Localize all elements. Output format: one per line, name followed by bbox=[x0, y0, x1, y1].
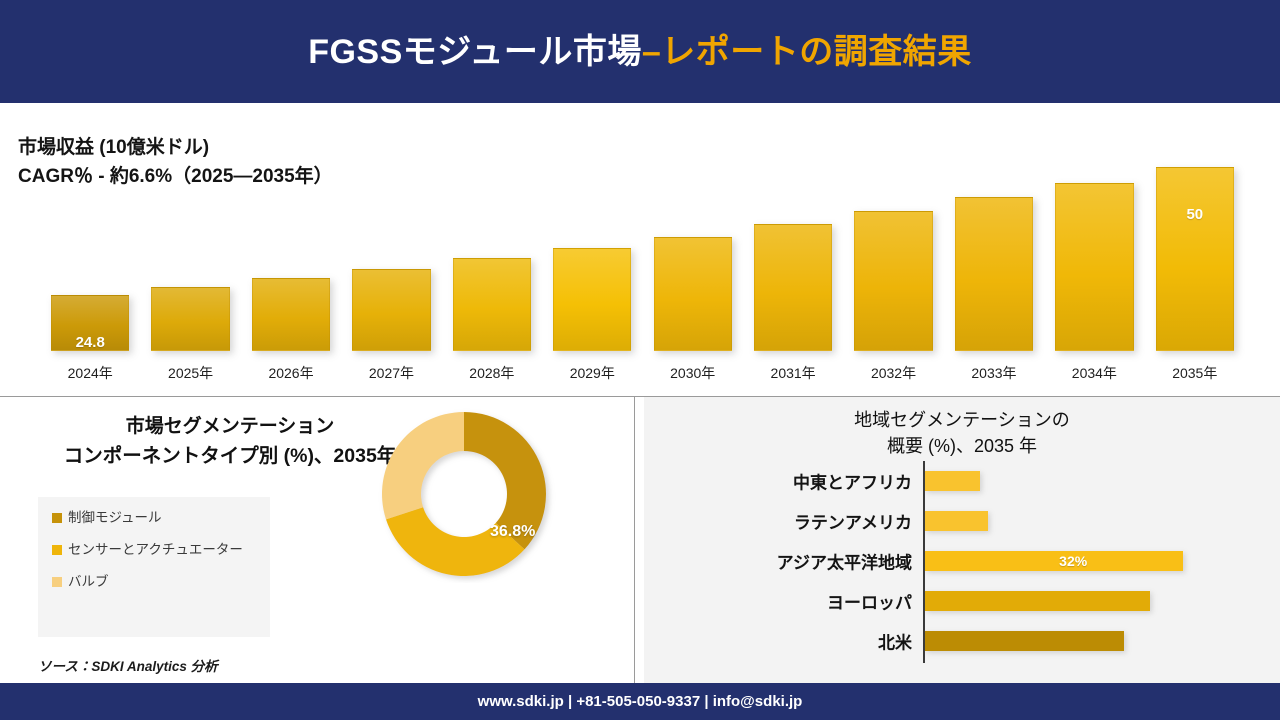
revenue-bar-category-label: 2032年 bbox=[843, 363, 943, 383]
source-note: ソース：SDKI Analytics 分析 bbox=[38, 655, 218, 675]
legend-item[interactable]: センサーとアクチュエーター bbox=[52, 541, 260, 559]
revenue-bar[interactable] bbox=[252, 278, 330, 351]
revenue-bar-category-label: 2025年 bbox=[140, 363, 240, 383]
region-row: ヨーロッパ bbox=[644, 581, 1280, 621]
revenue-bar[interactable] bbox=[151, 287, 229, 351]
revenue-bar[interactable] bbox=[854, 211, 932, 351]
header-banner: FGSSモジュール市場–レポートの調査結果 bbox=[0, 0, 1280, 103]
column-slot: 502035年 bbox=[1145, 123, 1245, 391]
revenue-bar[interactable] bbox=[754, 224, 832, 351]
column-slot: 2033年 bbox=[944, 123, 1044, 391]
revenue-bar-category-label: 2027年 bbox=[341, 363, 441, 383]
column-slot: 24.82024年 bbox=[40, 123, 140, 391]
column-slot: 2032年 bbox=[843, 123, 943, 391]
regional-title-line1: 地域セグメンテーションの bbox=[644, 407, 1280, 433]
revenue-chart-section: 市場収益 (10億米ドル) CAGR％ - 約6.6%（2025―2035年） … bbox=[0, 103, 1280, 396]
revenue-bar-value: 50 bbox=[1157, 206, 1233, 223]
section-divider-vertical bbox=[634, 397, 635, 683]
revenue-bar-category-label: 2029年 bbox=[542, 363, 642, 383]
region-row: アジア太平洋地域32% bbox=[644, 541, 1280, 581]
infographic-page: FGSSモジュール市場–レポートの調査結果 市場収益 (10億米ドル) CAGR… bbox=[0, 0, 1280, 720]
column-slot: 2029年 bbox=[542, 123, 642, 391]
region-label: ラテンアメリカ bbox=[794, 509, 912, 534]
page-title-main: FGSSモジュール市場 bbox=[308, 33, 642, 71]
region-bar[interactable] bbox=[925, 631, 1124, 651]
region-label: 中東とアフリカ bbox=[793, 469, 912, 494]
revenue-bar[interactable] bbox=[553, 248, 631, 351]
region-label: 北米 bbox=[878, 629, 912, 654]
regional-segmentation-panel: 地域セグメンテーションの 概要 (%)、2035 年 中東とアフリカラテンアメリ… bbox=[644, 397, 1280, 683]
column-slot: 2025年 bbox=[140, 123, 240, 391]
legend-item-label: 制御モジュール bbox=[68, 509, 162, 527]
segmentation-legend: 制御モジュールセンサーとアクチュエーターバルブ bbox=[38, 497, 270, 637]
segmentation-donut-chart: 36.8% bbox=[372, 405, 557, 583]
legend-swatch-icon bbox=[52, 513, 62, 523]
revenue-bar-category-label: 2030年 bbox=[643, 363, 743, 383]
column-slot: 2028年 bbox=[442, 123, 542, 391]
revenue-bar[interactable]: 50 bbox=[1156, 167, 1234, 351]
column-slot: 2031年 bbox=[743, 123, 843, 391]
revenue-bar[interactable] bbox=[654, 237, 732, 351]
column-slot: 2034年 bbox=[1044, 123, 1144, 391]
revenue-bar-value: 24.8 bbox=[52, 334, 128, 351]
segmentation-panel: 市場セグメンテーション コンポーネントタイプ別 (%)、2035年 制御モジュー… bbox=[0, 397, 634, 683]
region-row: 北米 bbox=[644, 621, 1280, 661]
region-bar[interactable] bbox=[925, 511, 988, 531]
region-label: ヨーロッパ bbox=[827, 589, 912, 614]
legend-swatch-icon bbox=[52, 577, 62, 587]
region-bar[interactable] bbox=[925, 591, 1150, 611]
footer-banner: www.sdki.jp | +81-505-050-9337 | info@sd… bbox=[0, 683, 1280, 720]
revenue-bar-category-label: 2031年 bbox=[743, 363, 843, 383]
revenue-bar-category-label: 2024年 bbox=[40, 363, 140, 383]
revenue-bar[interactable]: 24.8 bbox=[51, 295, 129, 351]
revenue-bar-category-label: 2034年 bbox=[1044, 363, 1144, 383]
regional-bar-chart: 中東とアフリカラテンアメリカアジア太平洋地域32%ヨーロッパ北米 bbox=[644, 455, 1280, 670]
region-bar[interactable] bbox=[925, 471, 980, 491]
regional-title: 地域セグメンテーションの 概要 (%)、2035 年 bbox=[644, 407, 1280, 459]
page-title: FGSSモジュール市場–レポートの調査結果 bbox=[308, 35, 972, 69]
legend-swatch-icon bbox=[52, 545, 62, 555]
page-title-accent: –レポートの調査結果 bbox=[642, 33, 972, 71]
revenue-bar[interactable] bbox=[453, 258, 531, 351]
donut-svg bbox=[372, 405, 557, 583]
region-bar[interactable] bbox=[925, 551, 1183, 571]
legend-item[interactable]: 制御モジュール bbox=[52, 509, 260, 527]
revenue-bar-category-label: 2026年 bbox=[241, 363, 341, 383]
column-slot: 2027年 bbox=[341, 123, 441, 391]
footer-contact-text: www.sdki.jp | +81-505-050-9337 | info@sd… bbox=[478, 693, 803, 710]
donut-slice[interactable] bbox=[382, 412, 464, 519]
column-slot: 2030年 bbox=[643, 123, 743, 391]
revenue-column-chart: 24.82024年2025年2026年2027年2028年2029年2030年2… bbox=[40, 123, 1245, 391]
revenue-bar[interactable] bbox=[352, 269, 430, 351]
donut-slice-label: 36.8% bbox=[490, 523, 535, 541]
legend-item[interactable]: バルブ bbox=[52, 573, 260, 591]
column-slot: 2026年 bbox=[241, 123, 341, 391]
revenue-bar-category-label: 2035年 bbox=[1145, 363, 1245, 383]
region-row: 中東とアフリカ bbox=[644, 461, 1280, 501]
region-row: ラテンアメリカ bbox=[644, 501, 1280, 541]
legend-item-label: バルブ bbox=[68, 573, 109, 591]
revenue-bar-category-label: 2028年 bbox=[442, 363, 542, 383]
region-label: アジア太平洋地域 bbox=[777, 549, 912, 574]
region-bar-value: 32% bbox=[1059, 553, 1087, 569]
revenue-bar[interactable] bbox=[955, 197, 1033, 351]
legend-item-label: センサーとアクチュエーター bbox=[68, 541, 243, 559]
revenue-bar[interactable] bbox=[1055, 183, 1133, 351]
revenue-bar-category-label: 2033年 bbox=[944, 363, 1044, 383]
